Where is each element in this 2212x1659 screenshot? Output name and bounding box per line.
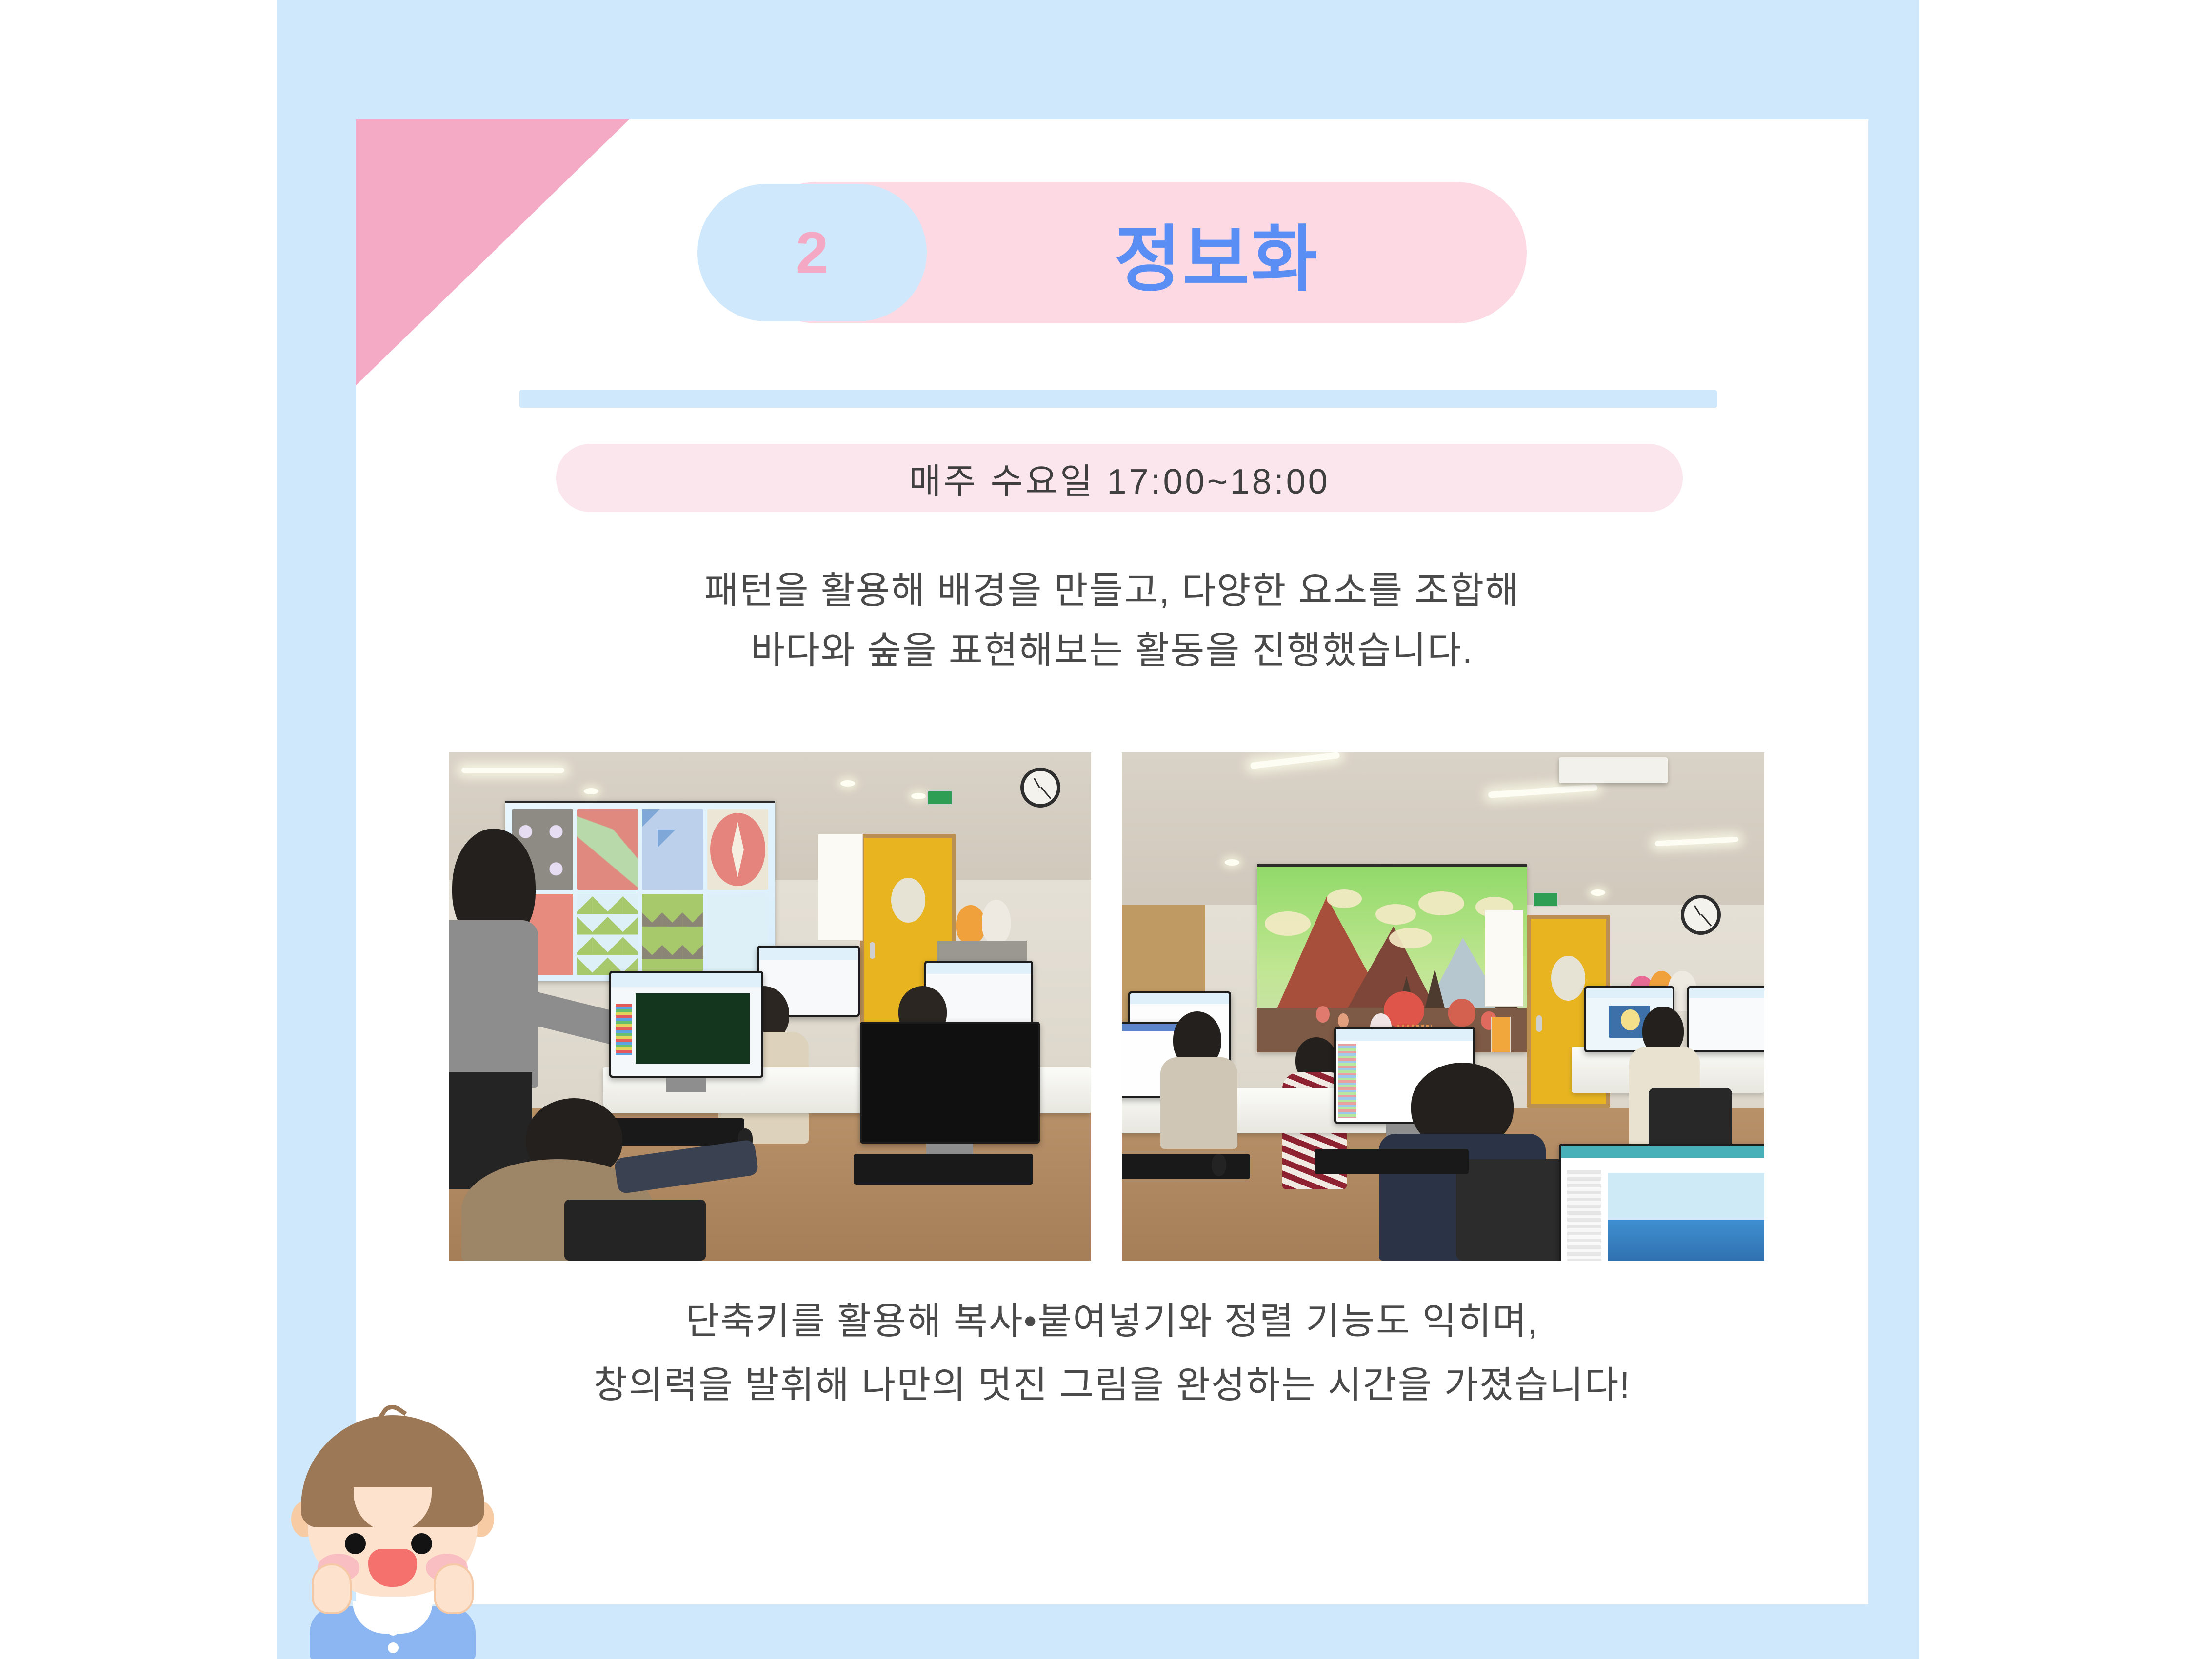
monitor-stand [666,1078,706,1092]
door-handle [1536,1015,1542,1032]
pattern-tile-grid [512,809,768,975]
mascot-eye-right [411,1533,432,1554]
keyboard [1122,1154,1250,1179]
photo-left [449,752,1091,1261]
exit-sign-icon [1533,892,1558,907]
pattern-tile [577,894,638,975]
mascot-character [290,1404,495,1659]
mascot-hand-left [312,1563,352,1614]
intro-paragraph: 패턴을 활용해 배경을 만들고, 다양한 요소를 조합해 바다와 숲을 표현해보… [454,561,1771,681]
tool-panel [1567,1170,1601,1261]
schedule-text: 매주 수요일 17:00~18:00 [909,453,1330,504]
monitor-screen [1689,988,1764,1050]
keyboard [854,1154,1034,1185]
monitor-foreground [1559,1144,1764,1261]
chair [564,1200,706,1261]
monitor [1687,986,1764,1052]
content-card: 정보화 2 매주 수요일 17:00~18:00 패턴을 활용해 배경을 만들고… [356,119,1868,1604]
artwork-cloud [1418,891,1464,915]
wall-notice [818,834,863,941]
pattern-tile [642,894,703,975]
drawing-canvas [636,993,750,1063]
projector [1559,757,1668,783]
mascot-hair [301,1415,484,1527]
exit-sign-icon [927,790,953,805]
mascot-button [388,1642,399,1653]
pattern-tile [642,809,703,890]
outro-paragraph: 단축키를 활용해 복사•붙여넣기와 정렬 기능도 익히며, 창의력을 발휘해 나… [419,1290,1805,1417]
artwork-cloud [1375,904,1416,925]
plush-toy [956,905,985,943]
monitor-screen [611,973,761,1076]
photo-right [1122,752,1764,1261]
downlight [1225,859,1239,866]
header: 정보화 2 [356,182,1868,323]
section-number: 2 [796,223,829,282]
artwork-cloud [1389,928,1433,948]
mascot-eye-left [345,1533,366,1554]
artwork-cloud [1265,911,1311,935]
header-divider [519,390,1717,408]
toolbar-strip [1338,1044,1356,1118]
intro-line-1: 패턴을 활용해 배경을 만들고, 다양한 요소를 조합해 [454,561,1771,621]
poster-page: 정보화 2 매주 수요일 17:00~18:00 패턴을 활용해 배경을 만들고… [0,0,2212,1659]
intro-line-2: 바다와 숲을 표현해보는 활동을 진행했습니다. [454,621,1771,681]
downlight [584,788,598,794]
wall-notice [1491,1017,1511,1052]
monitor-screen [1561,1145,1764,1261]
artwork-cloud [1327,889,1362,908]
monitor-foreground [609,971,763,1078]
door-handle [870,942,875,959]
pattern-tile [707,809,768,890]
mascot-button [388,1625,399,1636]
keyboard [1315,1149,1469,1174]
color-palette [616,1004,632,1055]
mascot-hand-right [434,1563,474,1614]
section-number-badge: 2 [697,184,927,321]
outro-line-2: 창의력을 발휘해 나만의 멋진 그림을 완성하는 시간을 가졌습니다! [419,1354,1805,1418]
wall-notice [1485,910,1523,1007]
seascape-canvas [1608,1173,1764,1261]
schedule-badge: 매주 수요일 17:00~18:00 [556,444,1683,512]
monitor-screen [862,1024,1038,1142]
artwork-bush [1448,999,1475,1027]
pattern-tile [577,809,638,890]
plush-toy [982,900,1011,943]
mouse [1212,1154,1226,1176]
artwork-flower [1316,1006,1330,1023]
monitor-foreground-right [860,1022,1040,1144]
wall-clock [1681,895,1721,935]
projector-screen [505,801,775,981]
outro-line-1: 단축키를 활용해 복사•붙여넣기와 정렬 기능도 익히며, [419,1290,1805,1354]
artwork-flower [1338,1013,1349,1028]
photo-row [449,752,1776,1261]
ceiling-light [461,768,564,773]
door-window [1551,956,1585,1001]
wall-clock [1020,768,1060,808]
student-body [1160,1057,1237,1149]
door-window [891,878,925,923]
